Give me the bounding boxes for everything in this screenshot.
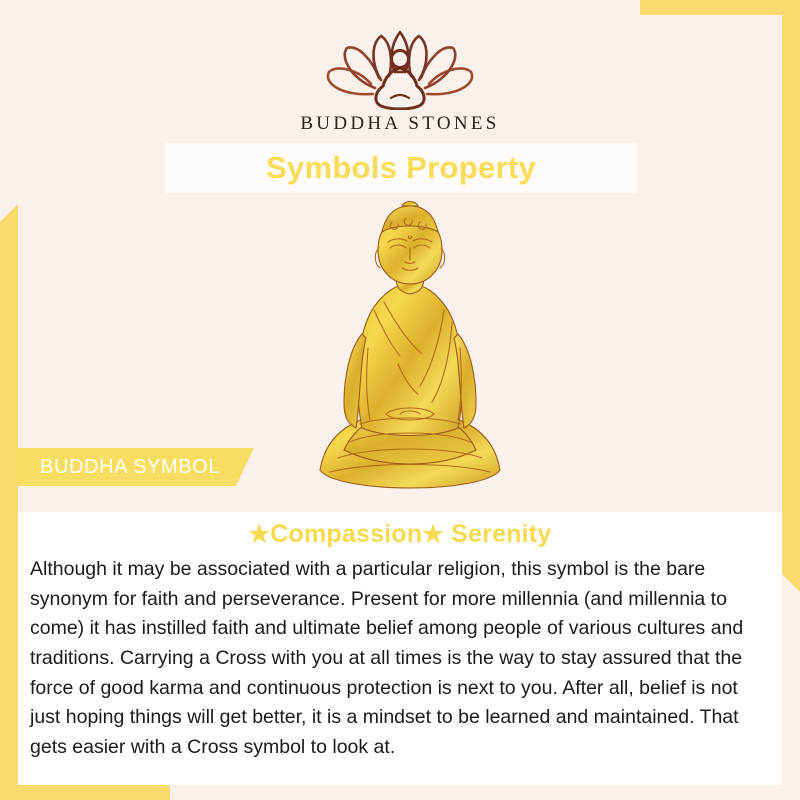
page-title: Symbols Property: [266, 150, 536, 186]
lotus-meditation-figure-icon: [315, 22, 485, 110]
brand-name: BUDDHA STONES: [0, 113, 800, 135]
buddha-statue-image: [300, 198, 520, 503]
article-body: Although it may be associated with a par…: [18, 549, 782, 762]
article-card: ★Compassion★ Serenity Although it may be…: [18, 512, 782, 785]
corner-frame-left-vertical: [0, 204, 18, 800]
ribbon-label: BUDDHA SYMBOL: [40, 456, 220, 479]
buddha-symbol-ribbon: BUDDHA SYMBOL: [18, 448, 254, 486]
golden-seated-buddha-statue-icon: [300, 198, 520, 503]
tagline-right: Serenity: [451, 520, 551, 548]
corner-frame-top-right-horizontal: [640, 0, 800, 15]
corner-frame-bottom-left-horizontal: [0, 785, 170, 800]
tagline-left: Compassion: [270, 520, 422, 548]
poster-canvas: BUDDHA STONES Symbols Property: [0, 0, 800, 800]
star-icon: ★: [422, 521, 444, 548]
tagline: ★Compassion★ Serenity: [18, 512, 782, 549]
star-icon: ★: [249, 521, 271, 548]
title-banner: Symbols Property: [165, 143, 637, 193]
brand-logo: BUDDHA STONES: [0, 22, 800, 135]
